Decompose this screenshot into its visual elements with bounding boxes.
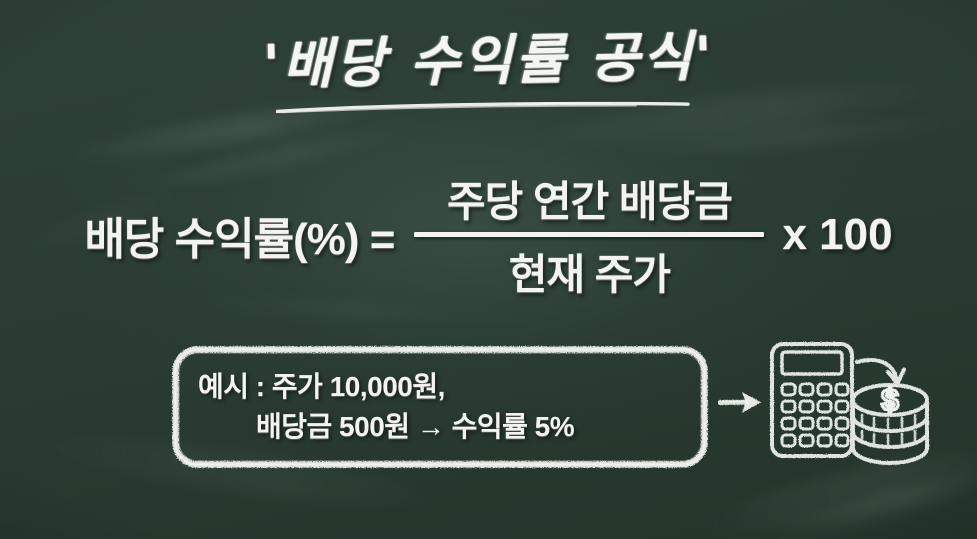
- example-text-block: 예시 : 주가 10,000원, 배당금 500원 → 수익률 5%: [170, 344, 710, 470]
- fraction: 주당 연간 배당금 현재 주가: [414, 168, 764, 302]
- svg-text:$: $: [881, 382, 898, 417]
- example-line-2: 배당금 500원 → 수익률 5%: [198, 407, 680, 447]
- formula-row: 배당 수익률(%) = 주당 연간 배당금 현재 주가 x 100: [0, 168, 977, 302]
- title-underline-icon: [276, 99, 690, 115]
- formula-multiplier: x 100: [782, 210, 892, 260]
- chalkboard: '배당 수익률 공식' 배당 수익률(%) = 주당 연간 배당금 현재 주가 …: [0, 0, 977, 539]
- page-title: '배당 수익률 공식': [262, 12, 715, 100]
- calculator-icon: [772, 344, 852, 456]
- example-line-1: 예시 : 주가 10,000원,: [198, 367, 680, 407]
- fraction-numerator: 주당 연간 배당금: [439, 168, 740, 232]
- arrow-right-icon: [718, 388, 766, 416]
- formula-left-side: 배당 수익률(%) =: [84, 203, 394, 267]
- chalk-smudge: [600, 110, 961, 163]
- curved-arrow-icon: [857, 360, 904, 384]
- fraction-denominator: 현재 주가: [501, 237, 678, 302]
- calculator-coins-illustration: $: [762, 338, 934, 474]
- example-box: 예시 : 주가 10,000원, 배당금 500원 → 수익률 5%: [170, 344, 710, 470]
- title-block: '배당 수익률 공식': [0, 16, 977, 95]
- dollar-sign-icon: $: [881, 382, 898, 417]
